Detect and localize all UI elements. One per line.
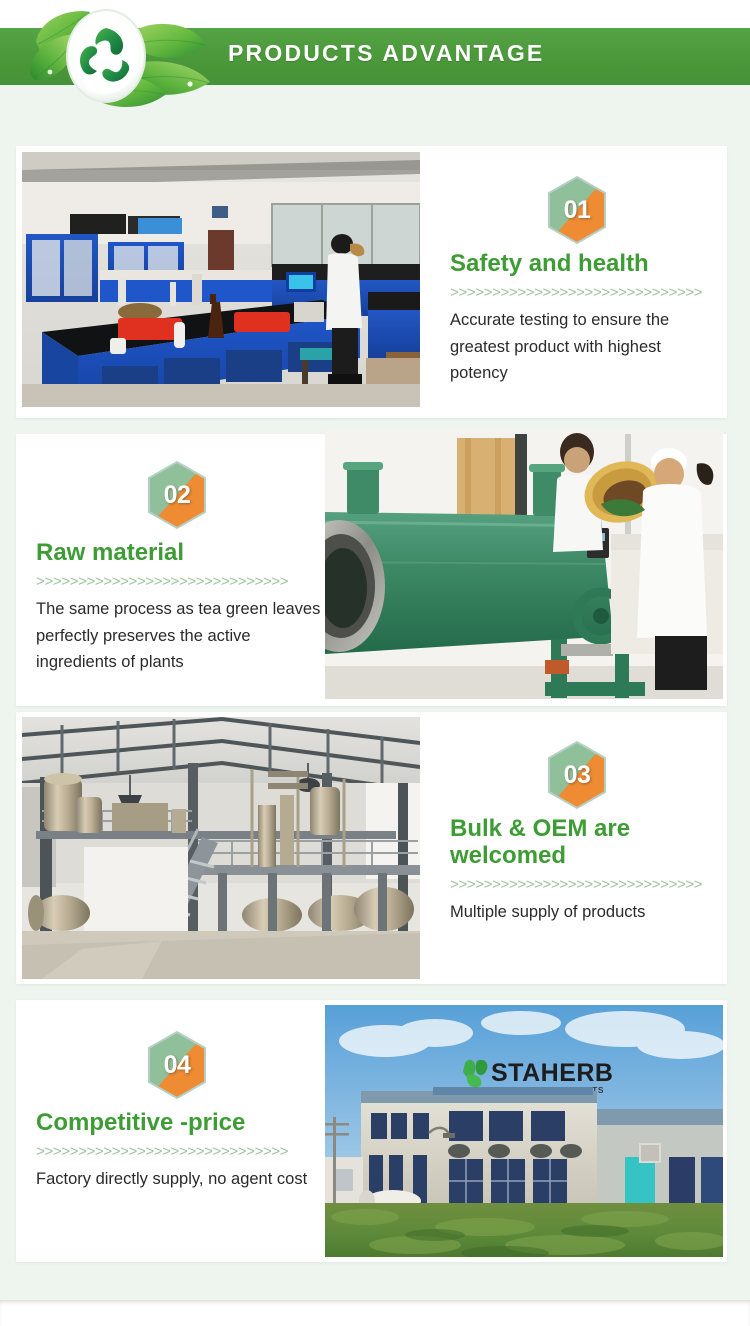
advantage-card-2-description: The same process as tea green leaves per… xyxy=(36,596,326,676)
staherb-leaf-logo xyxy=(24,0,224,112)
badge-number-3: 03 xyxy=(546,740,608,810)
chevron-divider: >>>>>>>>>>>>>>>>>>>>>>>>>>>>>> xyxy=(450,286,715,301)
advantage-card-4-text: 04 Competitive -price >>>>>>>>>>>>>>>>>>… xyxy=(36,1030,326,1193)
svg-text:STAHERB: STAHERB xyxy=(491,1059,613,1087)
extraction-workshop-photo xyxy=(22,717,420,979)
advantage-card-2-text: 02 Raw material >>>>>>>>>>>>>>>>>>>>>>>>… xyxy=(36,460,326,676)
badge-number-1: 01 xyxy=(546,175,608,245)
roasting-machine-photo xyxy=(325,430,723,699)
chevron-divider: >>>>>>>>>>>>>>>>>>>>>>>>>>>>>> xyxy=(450,878,722,893)
laboratory-photo xyxy=(22,152,420,407)
advantage-card-3-text: 03 Bulk & OEM are welcomed >>>>>>>>>>>>>… xyxy=(450,740,722,925)
badge-number-2-value: 02 xyxy=(146,460,208,530)
page-header: PRODUCTS ADVANTAGE xyxy=(0,0,750,112)
badge-number-4-value: 04 xyxy=(146,1030,208,1100)
badge-number-4: 04 xyxy=(146,1030,208,1100)
page-title: PRODUCTS ADVANTAGE xyxy=(228,40,544,67)
badge-number-3-value: 03 xyxy=(546,740,608,810)
badge-number-2: 02 xyxy=(146,460,208,530)
products-advantage-page: PRODUCTS ADVANTAGE xyxy=(0,0,750,1326)
advantage-card-1-description: Accurate testing to ensure the greatest … xyxy=(450,307,715,387)
advantage-card-1-text: 01 Safety and health >>>>>>>>>>>>>>>>>>>… xyxy=(450,175,715,387)
advantage-card-1-title: Safety and health xyxy=(450,251,715,278)
factory-building-photo: STAHERB NATURAL INGREDIENTS xyxy=(325,1005,723,1257)
chevron-divider: >>>>>>>>>>>>>>>>>>>>>>>>>>>>>> xyxy=(36,575,326,590)
page-bottom-edge xyxy=(0,1300,750,1326)
advantage-card-2-title: Raw material xyxy=(36,540,326,567)
advantage-card-4-title: Competitive -price xyxy=(36,1110,326,1137)
advantage-card-4-description: Factory directly supply, no agent cost xyxy=(36,1166,326,1193)
badge-number-1-value: 01 xyxy=(546,175,608,245)
chevron-divider: >>>>>>>>>>>>>>>>>>>>>>>>>>>>>> xyxy=(36,1145,326,1160)
advantage-card-3-title: Bulk & OEM are welcomed xyxy=(450,816,722,870)
advantage-card-3-description: Multiple supply of products xyxy=(450,899,722,926)
